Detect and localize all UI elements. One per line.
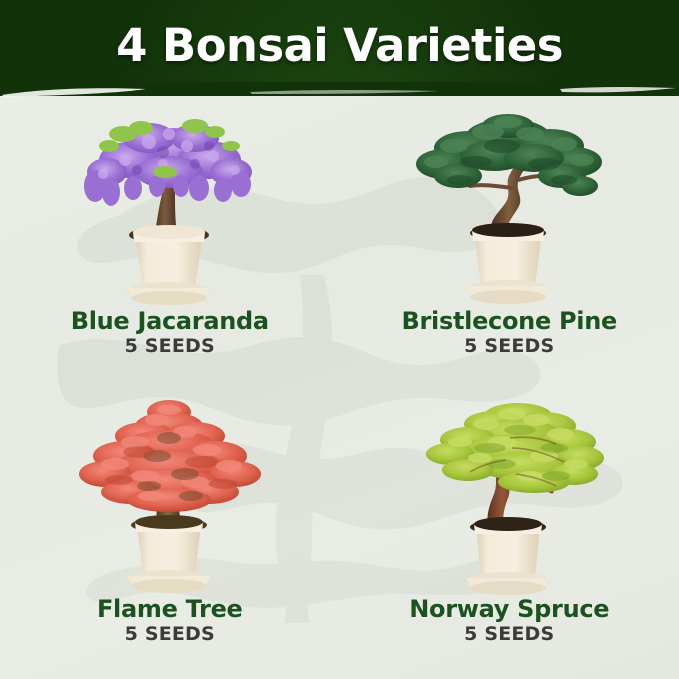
variety-caption: Norway Spruce 5 SEEDS [409, 597, 609, 647]
variety-name: Flame Tree [97, 597, 243, 622]
variety-name: Bristlecone Pine [402, 309, 617, 334]
varieties-grid: Blue Jacaranda 5 SEEDS [0, 96, 679, 679]
page-title: 4 Bonsai Varieties [0, 0, 679, 90]
variety-seed-count: 5 SEEDS [402, 335, 617, 359]
variety-card-flame-tree[interactable]: Flame Tree 5 SEEDS [0, 388, 340, 679]
variety-card-norway-spruce[interactable]: Norway Spruce 5 SEEDS [340, 388, 679, 679]
variety-seed-count: 5 SEEDS [71, 335, 269, 359]
variety-caption: Bristlecone Pine 5 SEEDS [402, 309, 617, 359]
variety-caption: Blue Jacaranda 5 SEEDS [71, 309, 269, 359]
variety-card-blue-jacaranda[interactable]: Blue Jacaranda 5 SEEDS [0, 96, 340, 388]
pine-bonsai-icon [384, 102, 634, 307]
spruce-bonsai-icon [384, 390, 634, 595]
header-banner: 4 Bonsai Varieties [0, 0, 679, 96]
jacaranda-bonsai-icon [45, 102, 295, 307]
variety-name: Norway Spruce [409, 597, 609, 622]
variety-card-bristlecone-pine[interactable]: Bristlecone Pine 5 SEEDS [340, 96, 679, 388]
variety-caption: Flame Tree 5 SEEDS [97, 597, 243, 647]
flame-tree-bonsai-icon [45, 390, 295, 595]
variety-name: Blue Jacaranda [71, 309, 269, 334]
variety-seed-count: 5 SEEDS [97, 623, 243, 647]
bonsai-varieties-poster: 4 Bonsai Varieties [0, 0, 679, 679]
variety-seed-count: 5 SEEDS [409, 623, 609, 647]
